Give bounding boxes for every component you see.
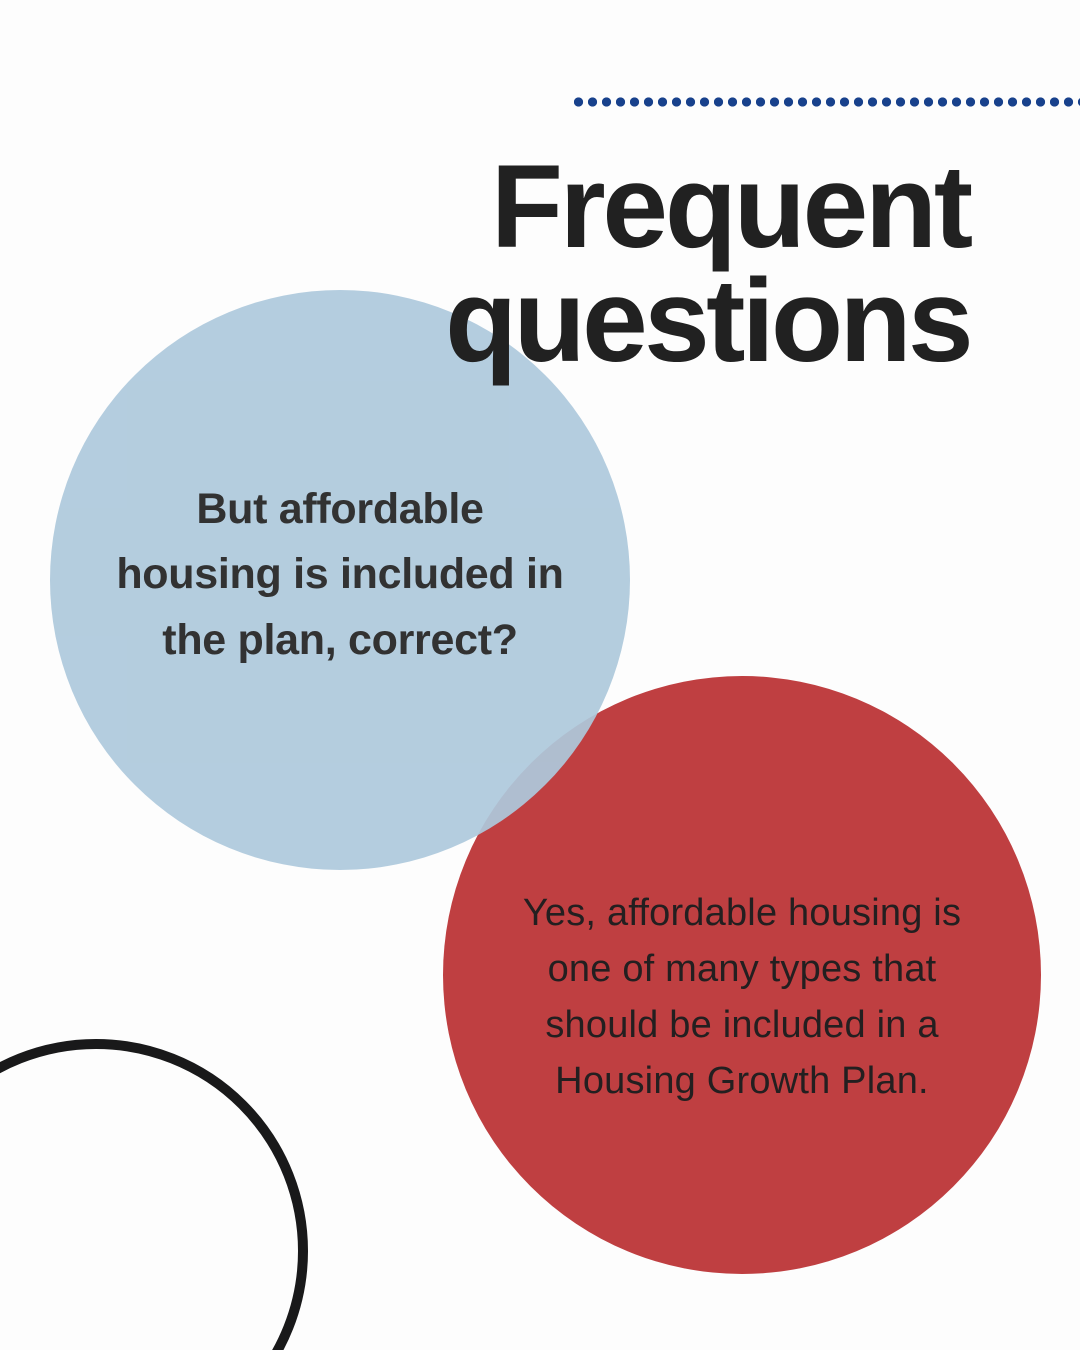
answer-text: Yes, affordable housing is one of many t… bbox=[517, 885, 967, 1110]
question-text: But affordable housing is included in th… bbox=[114, 477, 566, 673]
dotted-rule-icon bbox=[574, 97, 1080, 107]
page-title-line-1: Frequent bbox=[380, 150, 970, 264]
slide-canvas: Yes, affordable housing is one of many t… bbox=[0, 0, 1080, 1350]
question-bubble: But affordable housing is included in th… bbox=[50, 290, 630, 870]
circle-outline-icon bbox=[0, 1039, 308, 1350]
